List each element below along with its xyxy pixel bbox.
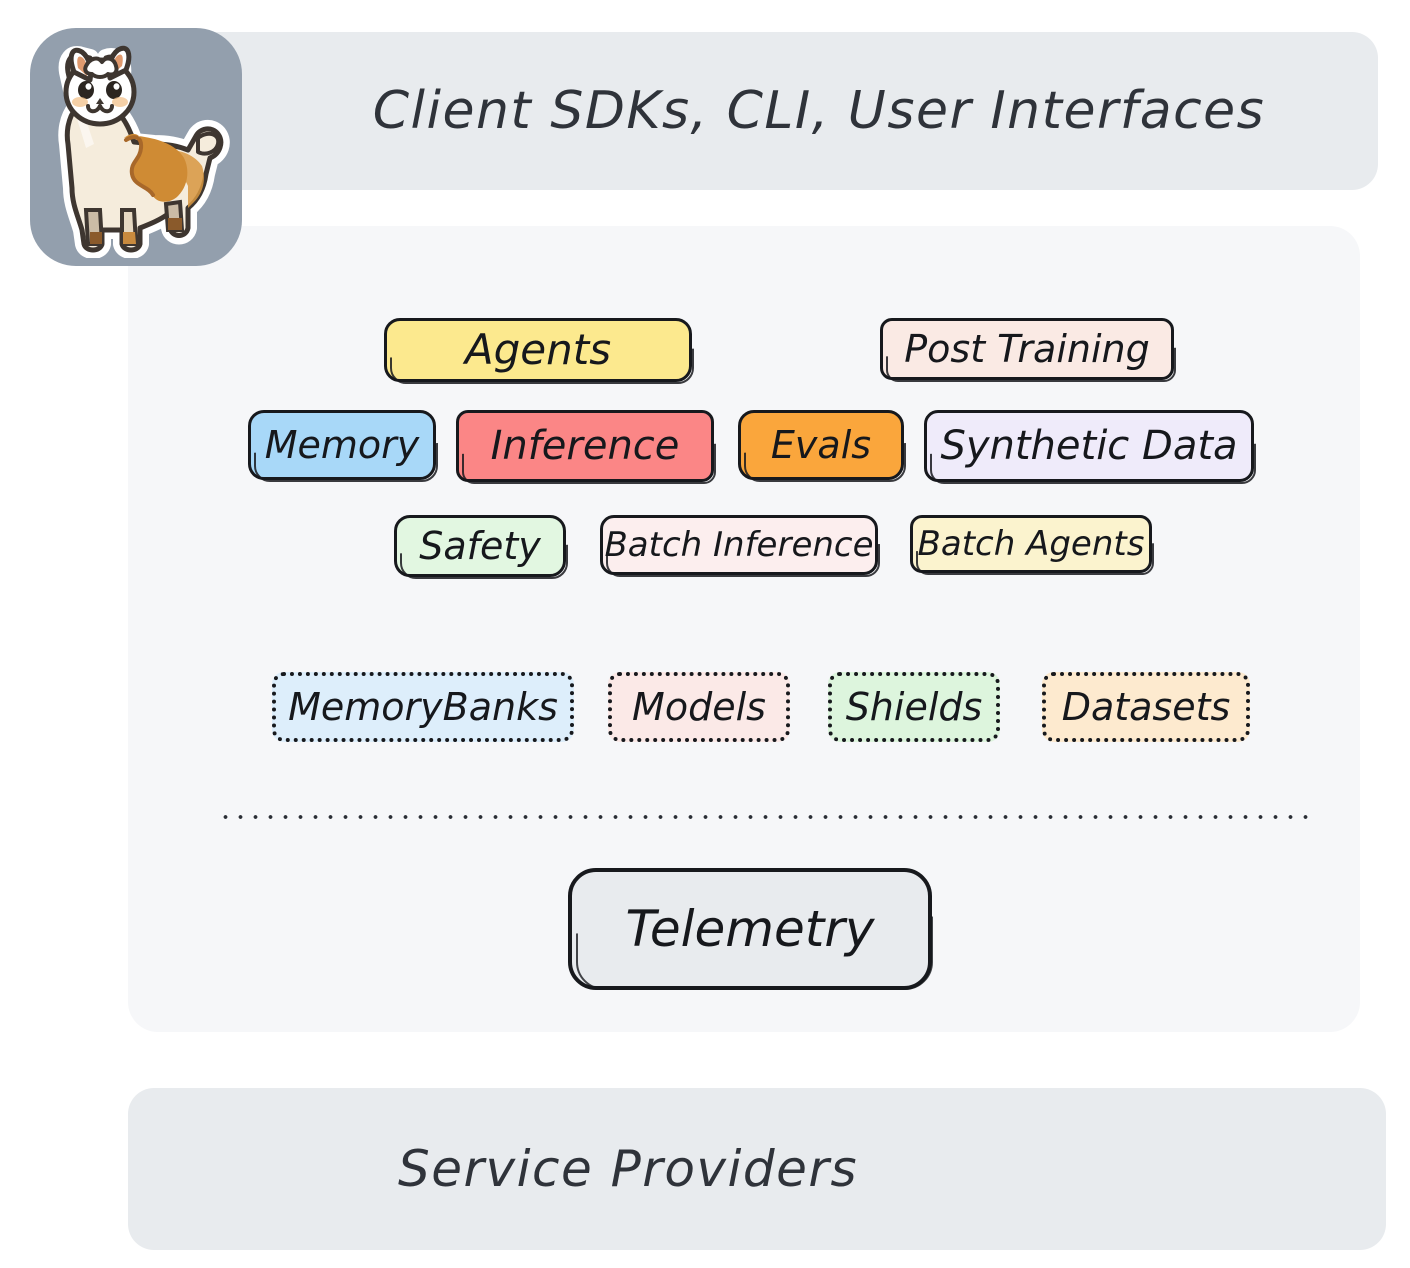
telemetry-box[interactable]: Telemetry [568,868,932,990]
llama-logo-badge [30,28,242,266]
api-box-label: Agents [465,329,611,371]
api-box-label: Synthetic Data [940,426,1237,466]
telemetry-label: Telemetry [626,900,875,958]
api-box-agents[interactable]: Agents [384,318,692,382]
api-row-2: MemoryInferenceEvalsSynthetic Data [248,410,1254,482]
api-box-batch-inference[interactable]: Batch Inference [600,515,878,575]
resource-box-label: Shields [846,685,983,729]
service-providers-banner: Service Providers [128,1088,1386,1250]
api-box-post-training[interactable]: Post Training [880,318,1174,380]
resource-box-label: MemoryBanks [288,685,558,729]
api-box-evals[interactable]: Evals [738,410,904,480]
api-box-label: Evals [771,426,871,464]
api-box-label: Memory [265,426,420,464]
api-box-label: Batch Inference [604,528,873,562]
client-interfaces-label: Client SDKs, CLI, User Interfaces [260,32,1378,190]
api-box-label: Batch Agents [918,527,1145,561]
api-row-1: AgentsPost Training [384,318,1174,382]
resource-box-datasets[interactable]: Datasets [1042,672,1250,742]
dotted-divider [218,814,1316,820]
api-box-safety[interactable]: Safety [394,515,566,577]
resource-row: MemoryBanksModelsShieldsDatasets [272,672,1250,742]
api-box-synthetic-data[interactable]: Synthetic Data [924,410,1254,482]
api-row-3: SafetyBatch InferenceBatch Agents [394,515,1152,577]
api-box-label: Post Training [904,330,1150,368]
resource-box-label: Models [632,685,766,729]
api-box-inference[interactable]: Inference [456,410,714,482]
service-providers-label: Service Providers [128,1088,1128,1250]
resource-box-label: Datasets [1062,685,1231,729]
resource-box-models[interactable]: Models [608,672,790,742]
resource-box-shields[interactable]: Shields [828,672,1000,742]
llama-logo-icon [38,38,234,258]
api-box-memory[interactable]: Memory [248,410,436,480]
api-box-label: Inference [491,426,680,466]
api-box-label: Safety [419,527,541,565]
api-box-batch-agents[interactable]: Batch Agents [910,515,1152,573]
resource-box-memorybanks[interactable]: MemoryBanks [272,672,574,742]
client-interfaces-banner: Client SDKs, CLI, User Interfaces [150,32,1378,190]
